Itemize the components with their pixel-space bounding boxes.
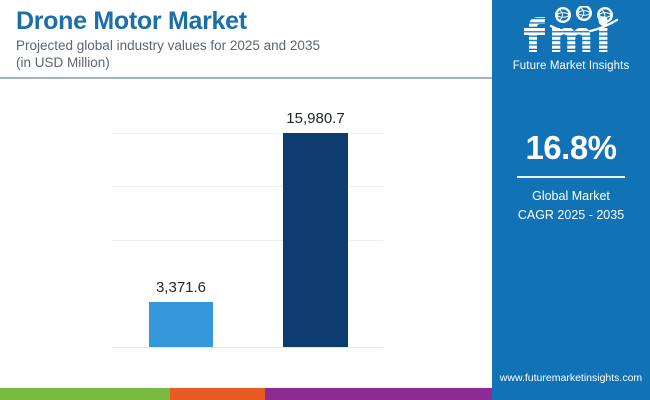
logo[interactable]: Future Market Insights — [492, 6, 650, 72]
bottom-color-stripe — [0, 388, 650, 400]
cagr-value: 16.8% — [492, 128, 650, 168]
cagr-panel: 16.8% Global Market CAGR 2025 - 2035 — [492, 128, 650, 225]
header: Drone Motor Market Projected global indu… — [0, 0, 492, 78]
stripe-segment-purple — [265, 388, 492, 400]
stripe-segment-blue — [492, 388, 650, 400]
bar-value-2025: 3,371.6 — [129, 279, 233, 296]
cagr-caption-line-1: Global Market — [492, 187, 650, 206]
bar-2025[interactable] — [149, 302, 213, 347]
stripe-segment-orange — [170, 388, 265, 400]
stripe-segment-green — [0, 388, 170, 400]
page-title: Drone Motor Market — [16, 7, 247, 36]
cagr-divider — [517, 176, 625, 178]
bar-chart: 3,371.6 15,980.7 2025 2035 — [0, 79, 492, 379]
bar-2035[interactable] — [283, 133, 348, 347]
market-infographic: Drone Motor Market Projected global indu… — [0, 0, 650, 400]
subtitle-line-2: (in USD Million) — [16, 55, 110, 70]
footer-url[interactable]: www.futuremarketinsights.com — [492, 372, 650, 384]
globe-icon-2 — [576, 6, 592, 21]
subtitle-line-1: Projected global industry values for 202… — [16, 38, 320, 53]
logo-tagline: Future Market Insights — [492, 60, 650, 72]
globe-icon-1 — [555, 7, 571, 23]
sidebar: Future Market Insights 16.8% Global Mark… — [492, 0, 650, 400]
fmi-logo-icon — [507, 6, 635, 54]
axis-baseline — [112, 347, 383, 348]
cagr-caption-line-2: CAGR 2025 - 2035 — [492, 206, 650, 225]
bar-value-2035: 15,980.7 — [263, 110, 368, 127]
